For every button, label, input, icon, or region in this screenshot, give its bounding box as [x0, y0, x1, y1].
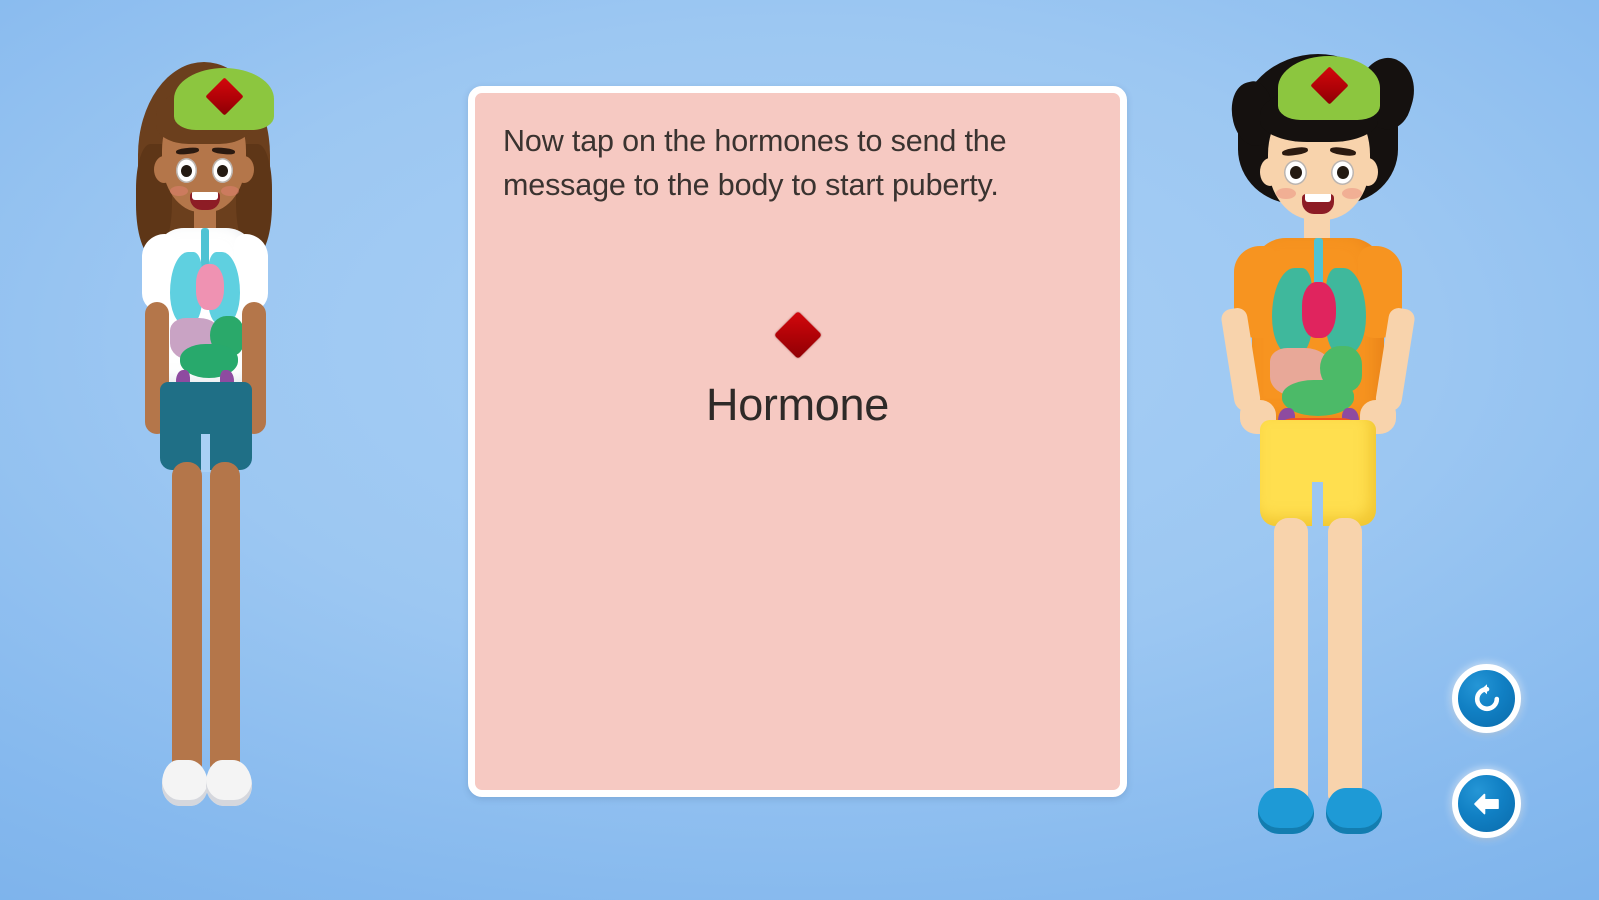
girl-heart	[196, 264, 224, 310]
girl-leg-right	[210, 462, 240, 772]
hormone-target[interactable]: Hormone	[475, 318, 1120, 431]
boy-cheek-left	[1276, 188, 1296, 199]
boy-trachea	[1314, 238, 1323, 288]
instruction-text: Now tap on the hormones to send the mess…	[503, 120, 1083, 208]
hormone-diamond-icon[interactable]	[773, 311, 821, 359]
girl-cheek-right	[221, 186, 239, 196]
girl-leg-left	[172, 462, 202, 772]
hormone-label: Hormone	[475, 379, 1120, 431]
girl-pupil-left	[181, 165, 192, 177]
boy-shoe-right	[1326, 788, 1382, 834]
girl-shorts-gap	[201, 434, 210, 472]
restart-icon	[1470, 682, 1504, 716]
boy-leg-left	[1274, 518, 1308, 802]
boy-mouth	[1302, 194, 1334, 214]
boy-teeth	[1305, 194, 1332, 202]
girl-brain[interactable]	[174, 68, 274, 130]
boy-eye-left	[1284, 160, 1307, 185]
girl-shoe-right	[206, 760, 252, 806]
lesson-stage: Now tap on the hormones to send the mess…	[0, 0, 1599, 900]
girl-hormone-diamond-icon[interactable]	[205, 77, 243, 115]
girl-pupil-right	[217, 165, 228, 177]
restart-button[interactable]	[1452, 664, 1521, 733]
boy-shoe-left	[1258, 788, 1314, 834]
girl-eye-right	[212, 158, 233, 183]
girl-eye-left	[176, 158, 197, 183]
boy-character[interactable]	[1216, 36, 1478, 842]
girl-teeth	[192, 192, 217, 200]
boy-heart	[1302, 282, 1336, 338]
boy-pupil-right	[1337, 166, 1349, 179]
girl-mouth	[190, 192, 220, 210]
girl-cheek-left	[170, 186, 188, 196]
boy-brain[interactable]	[1278, 56, 1380, 120]
boy-pupil-left	[1290, 166, 1302, 179]
boy-eye-right	[1331, 160, 1354, 185]
back-button[interactable]	[1452, 769, 1521, 838]
instruction-panel: Now tap on the hormones to send the mess…	[468, 86, 1127, 797]
girl-shoe-left	[162, 760, 208, 806]
boy-shorts-gap	[1312, 482, 1323, 528]
back-arrow-icon	[1470, 787, 1504, 821]
boy-hormone-diamond-icon[interactable]	[1310, 66, 1348, 104]
boy-leg-right	[1328, 518, 1362, 802]
girl-character[interactable]	[132, 52, 372, 842]
boy-cheek-right	[1342, 188, 1362, 199]
